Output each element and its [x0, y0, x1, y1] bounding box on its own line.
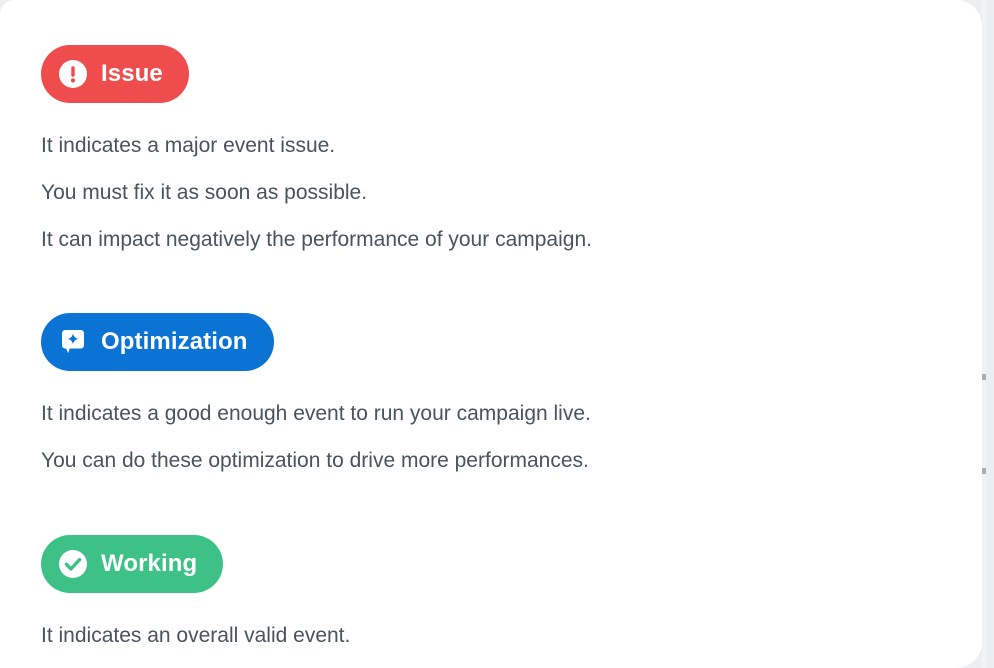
- description-line: It indicates a good enough event to run …: [41, 390, 982, 437]
- check-circle-icon: [58, 549, 88, 579]
- legend-panel: Issue It indicates a major event issue. …: [0, 0, 982, 668]
- description-line: It indicates an overall valid event.: [41, 612, 982, 659]
- status-badge-label: Working: [101, 552, 197, 576]
- status-badge-issue[interactable]: Issue: [41, 45, 189, 103]
- status-badge-optimization[interactable]: Optimization: [41, 313, 274, 371]
- description-line: It can impact negatively the performance…: [41, 216, 982, 263]
- optimization-description: It indicates a good enough event to run …: [41, 390, 982, 484]
- description-line: You must fix it as soon as possible.: [41, 169, 982, 216]
- working-description: It indicates an overall valid event.: [41, 612, 982, 659]
- scrollbar-tick[interactable]: [982, 468, 986, 474]
- vertical-scrollbar-track[interactable]: [982, 0, 986, 668]
- legend-section-working: Working It indicates an overall valid ev…: [41, 535, 982, 659]
- legend-section-optimization: Optimization It indicates a good enough …: [41, 313, 982, 484]
- legend-section-issue: Issue It indicates a major event issue. …: [41, 45, 982, 263]
- scrollbar-tick[interactable]: [982, 374, 986, 380]
- status-badge-label: Optimization: [101, 330, 248, 354]
- issue-description: It indicates a major event issue. You mu…: [41, 122, 982, 263]
- exclamation-circle-icon: [58, 59, 88, 89]
- description-line: You can do these optimization to drive m…: [41, 437, 982, 484]
- legend-content: Issue It indicates a major event issue. …: [0, 0, 982, 668]
- status-badge-working[interactable]: Working: [41, 535, 223, 593]
- sparkle-bubble-icon: [58, 327, 88, 357]
- status-badge-label: Issue: [101, 62, 163, 86]
- description-line: It indicates a major event issue.: [41, 122, 982, 169]
